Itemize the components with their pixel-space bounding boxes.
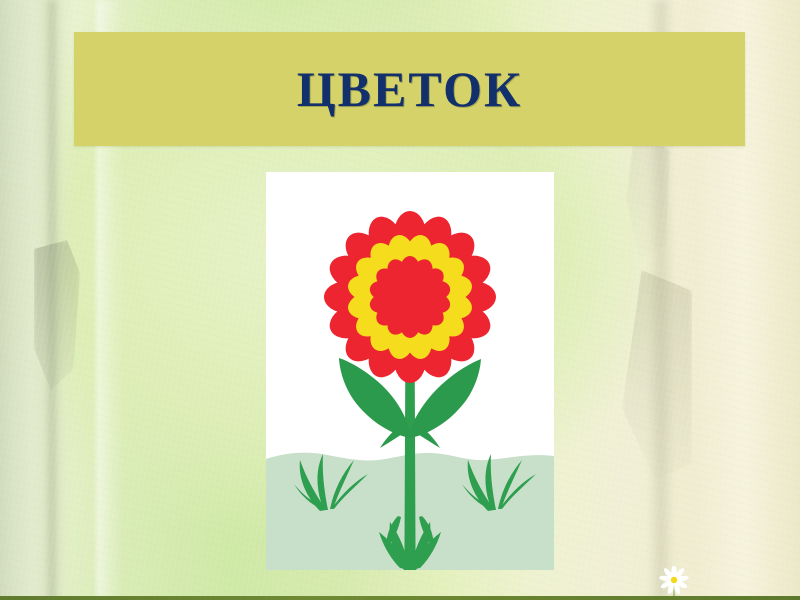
- flower-head: [324, 211, 496, 383]
- title-banner: ЦВЕТОК: [74, 32, 745, 146]
- picture-card: [266, 172, 554, 570]
- page-title: ЦВЕТОК: [297, 64, 522, 114]
- daisy-icon: [656, 566, 692, 600]
- flower-illustration: [266, 172, 554, 570]
- bottom-accent-bar: [0, 596, 800, 600]
- slide: ЦВЕТОК: [0, 0, 800, 600]
